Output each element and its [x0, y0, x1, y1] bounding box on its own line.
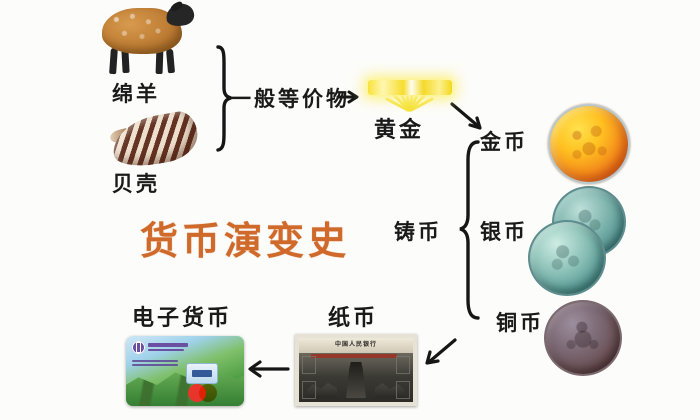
arrow-to-paper-head-icon	[427, 352, 438, 363]
banknote-corner	[396, 381, 410, 399]
shell-label: 贝壳	[112, 168, 160, 198]
currency-evolution-infographic: 绵羊 贝壳 一般等价物 黄金 金币 铸币 银币 铜币 货币演变史 电子货币	[0, 0, 700, 420]
gold-bar-image	[356, 50, 462, 112]
shell-body	[108, 109, 201, 171]
banknote-tower-motif	[343, 362, 369, 398]
general-equivalent-label: 一般等价物	[230, 83, 350, 113]
arrow-gold-to-goldcoin-head-icon	[470, 118, 480, 128]
visa-logo-icon	[186, 363, 218, 384]
bank-card-image	[126, 336, 244, 406]
silver-coin-front-image	[528, 220, 606, 296]
gold-bar	[368, 80, 452, 95]
electronic-money-label: 电子货币	[132, 300, 232, 332]
sheep-leg	[109, 48, 118, 74]
boc-mark-icon	[132, 341, 145, 354]
banknote-red-serial	[311, 354, 397, 358]
sheep-leg	[166, 49, 175, 74]
banknote-corner	[396, 356, 410, 374]
arrow-paper-to-card-head-icon	[250, 362, 260, 376]
mastercard-logo-icon	[188, 384, 222, 402]
sheep-image	[96, 2, 200, 78]
banknote-image: 中国人民银行	[295, 334, 417, 406]
sheep-label: 绵羊	[112, 78, 160, 108]
boc-wordmark	[148, 343, 188, 353]
banknote-issuer-text: 中国人民银行	[335, 339, 377, 348]
shell-image	[110, 112, 202, 172]
gold-coin-image	[548, 104, 630, 184]
silver-coin-label: 银币	[480, 216, 528, 246]
bank-of-china-logo	[132, 341, 188, 354]
paper-money-label: 纸币	[328, 300, 378, 332]
copper-coin-image	[544, 300, 622, 376]
copper-coin-label: 铜币	[496, 307, 544, 337]
minted-coin-label: 铸币	[394, 216, 442, 246]
page-title: 货币演变史	[140, 210, 350, 265]
gold-label: 黄金	[374, 112, 424, 144]
banknote-inner: 中国人民银行	[299, 338, 413, 402]
boc-subtitle-lines	[132, 360, 178, 368]
gold-coin-label: 金币	[480, 126, 528, 156]
brace-right-icon	[460, 142, 478, 318]
great-wall-graphic	[126, 362, 244, 406]
arrow-to-paper-icon	[429, 340, 455, 362]
banknote-corner	[302, 381, 316, 399]
banknote-corner	[302, 356, 316, 374]
